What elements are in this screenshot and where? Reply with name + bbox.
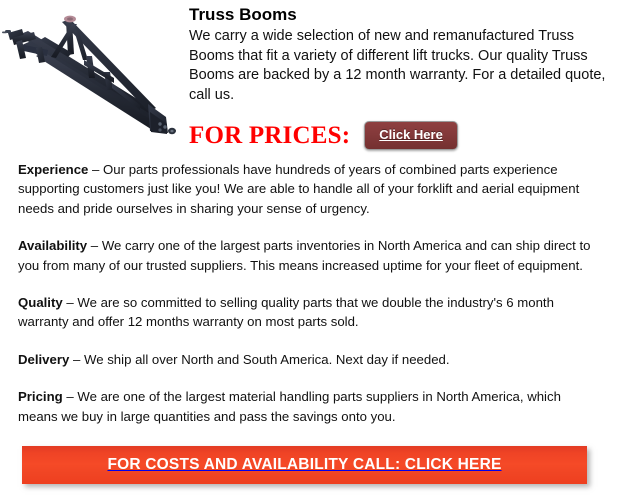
feature-lead: Quality (18, 295, 63, 310)
feature-body: Our parts professionals have hundreds of… (18, 162, 579, 216)
cta-banner-wrapper: FOR COSTS AND AVAILABILITY CALL: CLICK H… (22, 446, 587, 484)
feature-experience: Experience – Our parts professionals hav… (18, 160, 601, 218)
feature-separator: – (63, 295, 78, 310)
feature-lead: Delivery (18, 352, 69, 367)
hero-section: Truss Booms We carry a wide selection of… (0, 0, 619, 160)
page-title: Truss Booms (189, 4, 609, 25)
hero-description: We carry a wide selection of new and rem… (189, 27, 609, 105)
feature-body: We are one of the largest material handl… (18, 389, 561, 423)
feature-body: We are so committed to selling quality p… (18, 295, 554, 329)
feature-availability: Availability – We carry one of the large… (18, 236, 601, 275)
feature-pricing: Pricing – We are one of the largest mate… (18, 387, 601, 426)
truss-boom-product-image (0, 0, 190, 160)
feature-lead: Availability (18, 238, 87, 253)
cta-banner-label: FOR COSTS AND AVAILABILITY CALL: CLICK H… (107, 456, 501, 474)
feature-delivery: Delivery – We ship all over North and So… (18, 350, 601, 369)
for-prices-label: FOR PRICES: (189, 123, 350, 149)
feature-separator: – (63, 389, 78, 404)
feature-separator: – (88, 162, 103, 177)
for-prices-row: FOR PRICES: Click Here (189, 121, 458, 150)
feature-separator: – (87, 238, 102, 253)
feature-quality: Quality – We are so committed to selling… (18, 293, 601, 332)
feature-body: We carry one of the largest parts invent… (18, 238, 590, 272)
feature-separator: – (69, 352, 84, 367)
features-list: Experience – Our parts professionals hav… (18, 160, 601, 426)
hero-copy: Truss Booms We carry a wide selection of… (189, 4, 609, 105)
feature-lead: Experience (18, 162, 88, 177)
feature-body: We ship all over North and South America… (84, 352, 450, 367)
click-here-button[interactable]: Click Here (364, 121, 458, 150)
feature-lead: Pricing (18, 389, 63, 404)
cta-call-banner-button[interactable]: FOR COSTS AND AVAILABILITY CALL: CLICK H… (22, 446, 587, 484)
